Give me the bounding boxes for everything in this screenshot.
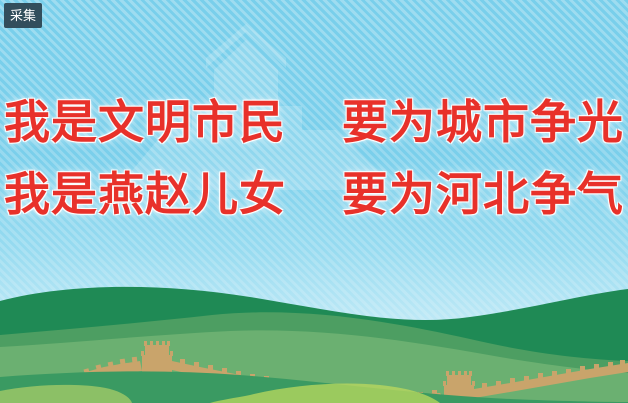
capture-button[interactable]: 采集 [4,3,42,28]
poster-image: 我是文明市民 要为城市争光 我是燕赵儿女 要为河北争气 采集 [0,0,628,403]
landscape-illustration [0,273,628,403]
headline-line-1-left: 我是文明市民 [4,86,286,158]
headline-block: 我是文明市民 要为城市争光 我是燕赵儿女 要为河北争气 [0,86,628,230]
headline-line-1-right: 要为城市争光 [342,86,624,158]
headline-line-1: 我是文明市民 要为城市争光 [0,86,628,158]
headline-line-2-left: 我是燕赵儿女 [4,158,286,230]
headline-line-2-right: 要为河北争气 [342,158,624,230]
headline-line-2: 我是燕赵儿女 要为河北争气 [0,158,628,230]
